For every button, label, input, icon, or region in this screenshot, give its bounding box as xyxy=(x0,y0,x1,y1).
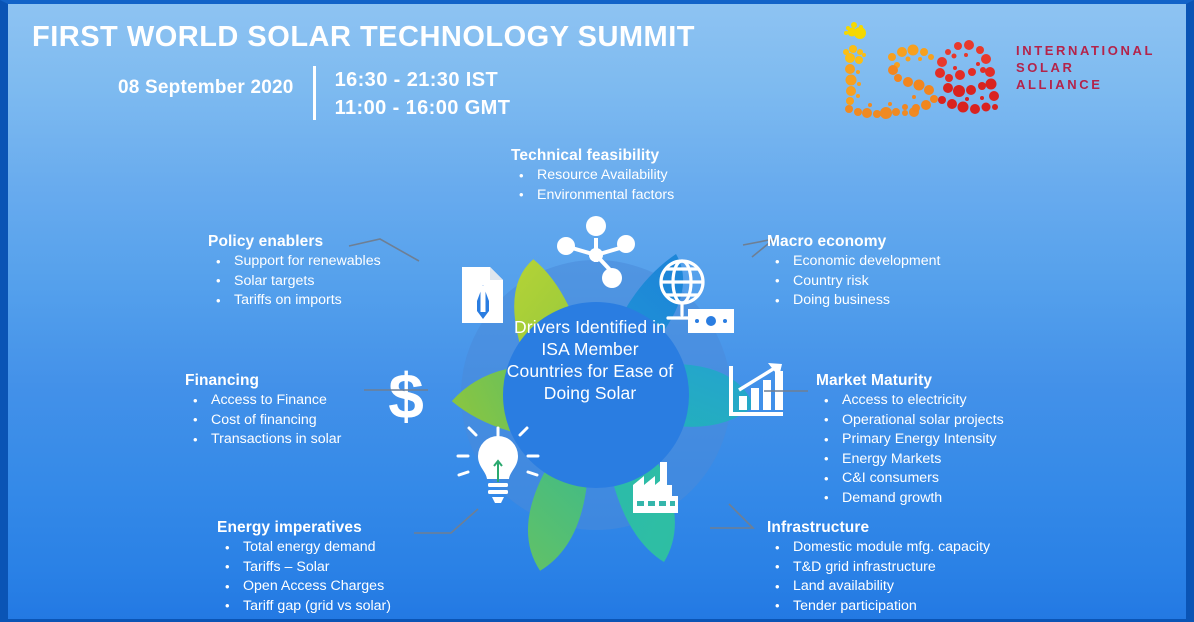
page-title: FIRST WORLD SOLAR TECHNOLOGY SUMMIT xyxy=(32,21,695,54)
list-item: Operational solar projects xyxy=(816,411,1004,431)
list-item: Tariff gap (grid vs solar) xyxy=(217,597,391,617)
list-item: Access to Finance xyxy=(185,391,341,411)
isa-logo-line3: ALLIANCE xyxy=(1016,76,1155,93)
callout-list: Access to electricity Operational solar … xyxy=(816,391,1004,508)
list-item: Tender participation xyxy=(767,597,990,617)
list-item: Country risk xyxy=(767,272,940,292)
list-item: Domestic module mfg. capacity xyxy=(767,538,990,558)
list-item: Tariffs on imports xyxy=(208,291,381,311)
callout-title: Energy imperatives xyxy=(217,519,391,537)
callout-energy-imperatives: Energy imperatives Total energy demand T… xyxy=(217,519,391,616)
callout-financing: Financing Access to Finance Cost of fina… xyxy=(185,372,341,450)
list-item: Transactions in solar xyxy=(185,430,341,450)
callout-title: Financing xyxy=(185,372,341,390)
list-item: Tariffs – Solar xyxy=(217,558,391,578)
isa-logo-text: INTERNATIONAL SOLAR ALLIANCE xyxy=(1016,42,1155,93)
list-item: Support for renewables xyxy=(208,252,381,272)
list-item: Cost of financing xyxy=(185,411,341,431)
callout-list: Resource Availability Environmental fact… xyxy=(511,166,674,205)
callout-title: Technical feasibility xyxy=(511,147,674,165)
list-item: Economic development xyxy=(767,252,940,272)
list-item: C&I consumers xyxy=(816,469,1004,489)
list-item: Demand growth xyxy=(816,489,1004,509)
callout-technical-feasibility: Technical feasibility Resource Availabil… xyxy=(511,147,674,205)
event-date: 08 September 2020 xyxy=(118,66,294,99)
drivers-wheel-diagram xyxy=(406,200,786,590)
wheel-hub-circle xyxy=(503,302,689,488)
list-item: Total energy demand xyxy=(217,538,391,558)
list-item: Land availability xyxy=(767,577,990,597)
list-item: T&D grid infrastructure xyxy=(767,558,990,578)
document-pen-icon xyxy=(462,267,503,323)
callout-infrastructure: Infrastructure Domestic module mfg. capa… xyxy=(767,519,990,622)
callout-list: Economic development Country risk Doing … xyxy=(767,252,940,311)
callout-title: Market Maturity xyxy=(816,372,1004,390)
callout-market-maturity: Market Maturity Access to electricity Op… xyxy=(816,372,1004,508)
list-item: Energy Markets xyxy=(816,450,1004,470)
isa-logo-dots-icon xyxy=(830,12,1020,130)
callout-list: Total energy demand Tariffs – Solar Open… xyxy=(217,538,391,616)
callout-list: Support for renewables Solar targets Tar… xyxy=(208,252,381,311)
list-item: Open Access Charges xyxy=(217,577,391,597)
list-item: Access to electricity xyxy=(816,391,1004,411)
isa-logo: INTERNATIONAL SOLAR ALLIANCE xyxy=(830,12,1150,130)
event-time-gmt: 11:00 - 16:00 GMT xyxy=(335,94,511,122)
list-item: Solar Potential xyxy=(767,616,990,622)
callout-policy-enablers: Policy enablers Support for renewables S… xyxy=(208,233,381,311)
event-times: 16:30 - 21:30 IST 11:00 - 16:00 GMT xyxy=(335,66,511,122)
list-item: Doing business xyxy=(767,291,940,311)
event-time-ist: 16:30 - 21:30 IST xyxy=(335,66,511,94)
callout-macro-economy: Macro economy Economic development Count… xyxy=(767,233,940,311)
event-datetime: 08 September 2020 16:30 - 21:30 IST 11:0… xyxy=(118,66,510,122)
callout-list: Domestic module mfg. capacity T&D grid i… xyxy=(767,538,990,622)
list-item: Environmental factors xyxy=(511,186,674,206)
callout-list: Access to Finance Cost of financing Tran… xyxy=(185,391,341,450)
poster-canvas: FIRST WORLD SOLAR TECHNOLOGY SUMMIT 08 S… xyxy=(0,0,1194,622)
list-item: Solar targets xyxy=(208,272,381,292)
callout-title: Macro economy xyxy=(767,233,940,251)
vertical-divider xyxy=(313,66,316,120)
list-item: Primary Energy Intensity xyxy=(816,430,1004,450)
list-item: Resource Availability xyxy=(511,166,674,186)
isa-logo-line2: SOLAR xyxy=(1016,59,1155,76)
isa-logo-line1: INTERNATIONAL xyxy=(1016,42,1155,59)
callout-title: Policy enablers xyxy=(208,233,381,251)
callout-title: Infrastructure xyxy=(767,519,990,537)
